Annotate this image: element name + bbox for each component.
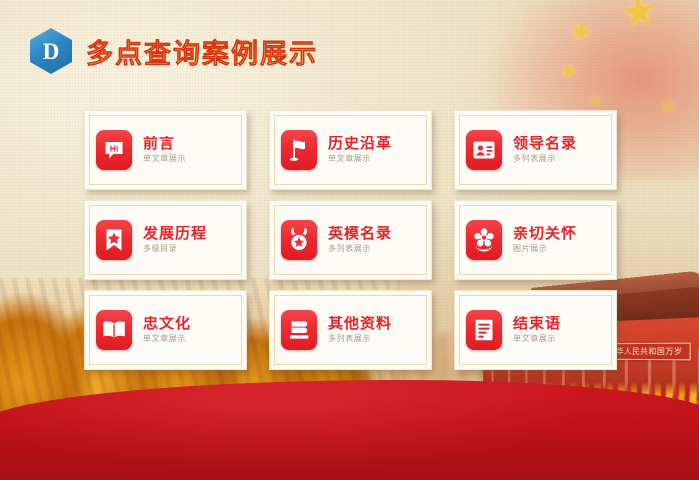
speech-bubble-hi-icon: Hi [96, 130, 132, 170]
red-ribbon-banner [0, 380, 699, 480]
id-card-icon [466, 130, 502, 170]
flag-star-icon: ★ [658, 95, 681, 120]
medal-icon [281, 220, 317, 260]
card-title: 结束语 [513, 316, 561, 332]
card-history[interactable]: 历史沿革 单文章展示 [269, 110, 432, 190]
card-heroes[interactable]: 英模名录 多列表展示 [269, 200, 432, 280]
card-subtitle: 单文章展示 [328, 155, 392, 164]
open-book-icon [96, 310, 132, 350]
card-leaders[interactable]: 领导名录 多列表展示 [454, 110, 617, 190]
page-header: D 多点查询案例展示 [30, 28, 318, 74]
flag-star-icon: ★ [558, 61, 578, 83]
svg-text:Hi: Hi [110, 143, 119, 153]
slide-canvas: ★ ★ ★ ★ ★ 中华人民共和国万岁 D 多点查询案例展示 Hi [0, 0, 699, 480]
card-epilogue[interactable]: 结束语 单文章展示 [454, 290, 617, 370]
card-development[interactable]: 发展历程 多级目录 [84, 200, 247, 280]
card-text: 英模名录 多列表展示 [328, 226, 392, 254]
card-zhong-culture[interactable]: 忠文化 单文章展示 [84, 290, 247, 370]
card-subtitle: 多列表展示 [513, 155, 577, 164]
card-text: 发展历程 多级目录 [143, 226, 207, 254]
card-subtitle: 多列表展示 [328, 245, 392, 254]
card-title: 其他资料 [328, 316, 392, 332]
card-title: 历史沿革 [328, 136, 392, 152]
card-title: 亲切关怀 [513, 226, 577, 242]
banner-star-icon [96, 220, 132, 260]
logo-letter: D [43, 40, 60, 63]
card-subtitle: 单文章展示 [143, 335, 191, 344]
card-subtitle: 单文章展示 [143, 155, 186, 164]
card-text: 其他资料 多列表展示 [328, 316, 392, 344]
card-care[interactable]: 亲切关怀 图片展示 [454, 200, 617, 280]
card-title: 英模名录 [328, 226, 392, 242]
card-title: 领导名录 [513, 136, 577, 152]
card-subtitle: 多列表展示 [328, 335, 392, 344]
card-text: 历史沿革 单文章展示 [328, 136, 392, 164]
page-title: 多点查询案例展示 [86, 32, 318, 71]
card-subtitle: 图片展示 [513, 245, 577, 254]
card-text: 亲切关怀 图片展示 [513, 226, 577, 254]
flag-star-icon: ★ [619, 0, 659, 34]
card-other-docs[interactable]: 其他资料 多列表展示 [269, 290, 432, 370]
card-preface[interactable]: Hi 前言 单文章展示 [84, 110, 247, 190]
card-text: 前言 单文章展示 [143, 136, 186, 164]
flag-icon [281, 130, 317, 170]
logo-hexagon-d-icon: D [30, 28, 72, 74]
flower-icon [466, 220, 502, 260]
card-title: 前言 [143, 136, 186, 152]
document-lines-icon [466, 310, 502, 350]
card-subtitle: 单文章展示 [513, 335, 561, 344]
card-grid: Hi 前言 单文章展示 历史沿革 单文章展示 [84, 110, 616, 370]
card-text: 领导名录 多列表展示 [513, 136, 577, 164]
card-text: 忠文化 单文章展示 [143, 316, 191, 344]
card-subtitle: 多级目录 [143, 245, 207, 254]
card-title: 忠文化 [143, 316, 191, 332]
card-text: 结束语 单文章展示 [513, 316, 561, 344]
stacked-books-icon [281, 310, 317, 350]
card-title: 发展历程 [143, 226, 207, 242]
